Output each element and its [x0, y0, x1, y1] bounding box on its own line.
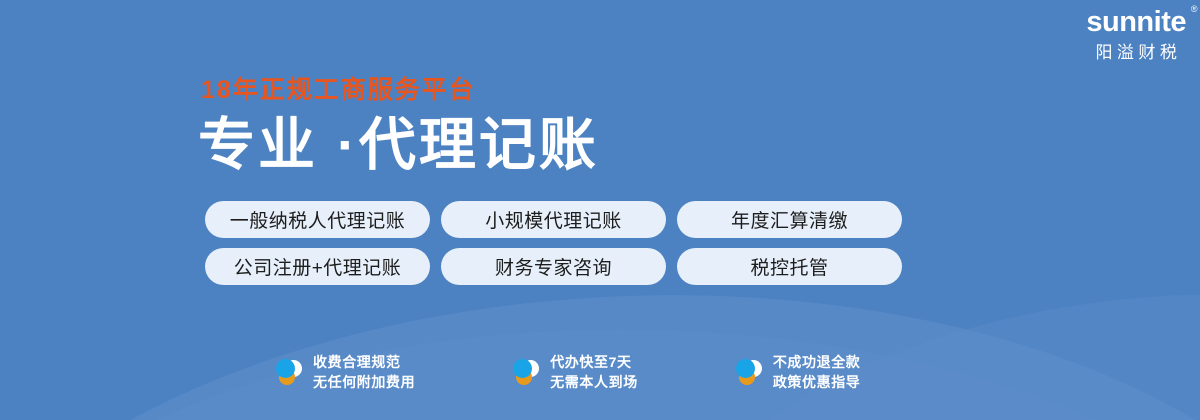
feature-list: 收费合理规范 无任何附加费用 代办快至7天 无需本人到场 不成功退全款	[276, 352, 860, 393]
two-tone-circle-icon	[513, 357, 539, 387]
cyan-circle-shape	[736, 359, 755, 378]
banner-headline: 专业 ·代理记账	[198, 116, 599, 176]
feature-item: 代办快至7天 无需本人到场	[513, 352, 638, 393]
service-pill[interactable]: 年度汇算清缴	[677, 201, 902, 238]
promo-banner: sunnite® 阳溢财税 18年正规工商服务平台 专业 ·代理记账 一般纳税人…	[0, 0, 1200, 420]
feature-line-2: 无任何附加费用	[313, 372, 415, 392]
two-tone-circle-icon	[276, 357, 302, 387]
feature-line-1: 不成功退全款	[773, 352, 861, 372]
background-swoosh-1	[0, 267, 1200, 420]
feature-item: 收费合理规范 无任何附加费用	[276, 352, 415, 393]
two-tone-circle-icon	[736, 357, 762, 387]
service-pill-grid: 一般纳税人代理记账 小规模代理记账 年度汇算清缴 公司注册+代理记账 财务专家咨…	[205, 201, 902, 285]
feature-text: 不成功退全款 政策优惠指导	[773, 352, 861, 393]
feature-text: 代办快至7天 无需本人到场	[550, 352, 638, 393]
service-pill[interactable]: 税控托管	[677, 248, 902, 285]
feature-text: 收费合理规范 无任何附加费用	[313, 352, 415, 393]
service-pill[interactable]: 一般纳税人代理记账	[205, 201, 430, 238]
feature-item: 不成功退全款 政策优惠指导	[736, 352, 861, 393]
feature-line-1: 收费合理规范	[313, 352, 415, 372]
feature-line-2: 政策优惠指导	[773, 372, 861, 392]
banner-kicker: 18年正规工商服务平台	[201, 78, 476, 103]
feature-line-1: 代办快至7天	[550, 352, 638, 372]
service-pill[interactable]: 财务专家咨询	[441, 248, 666, 285]
service-pill[interactable]: 小规模代理记账	[441, 201, 666, 238]
logo-chinese-name: 阳溢财税	[1086, 44, 1186, 61]
feature-line-2: 无需本人到场	[550, 372, 638, 392]
service-pill[interactable]: 公司注册+代理记账	[205, 248, 430, 285]
brand-logo[interactable]: sunnite® 阳溢财税	[1086, 8, 1186, 61]
registered-trademark-icon: ®	[1191, 5, 1197, 14]
logo-wordmark: sunnite®	[1086, 8, 1186, 37]
background-swoosh-3	[633, 277, 1200, 420]
